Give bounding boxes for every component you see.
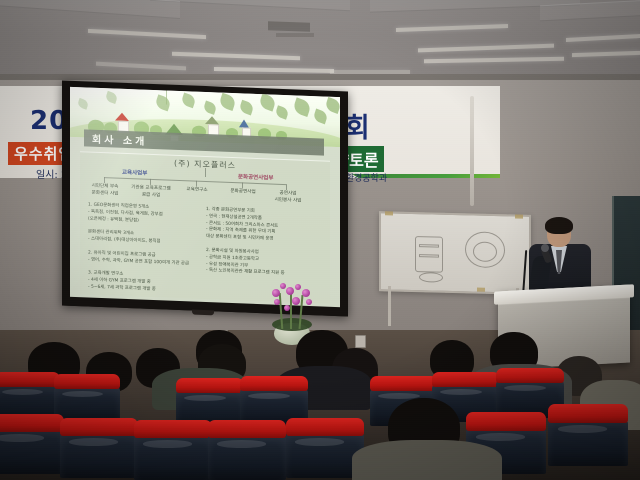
lecture-hall-photo: 200 우수취업 일시: 2009. 수회 공전략토론 대학교 환경공학과: [0, 0, 640, 480]
speaker-hair: [545, 217, 573, 234]
org-node: 문화공연사업: [220, 189, 266, 197]
orchid-bloom: [280, 283, 286, 289]
org-connector: [205, 168, 206, 177]
org-connector: [242, 182, 243, 188]
slide-body: (주) 지오플러스 교육사업부 문화공연사업부 시민단체 부속 문화센터 사업 …: [80, 151, 330, 304]
orchid-foliage: [272, 318, 312, 331]
slide-right-column: 1. 각종 문화공연부문 기회 - 연극 : 현재상설공연 2개작품 - 콘서트…: [206, 207, 324, 280]
whiteboard-clip: [477, 288, 485, 292]
orchid-bloom: [272, 289, 280, 297]
ceiling-vent: [268, 21, 310, 31]
seat-headrest: [0, 414, 64, 432]
seat-highlight: [440, 389, 482, 395]
audience-shoulders: [352, 440, 502, 480]
orchid-bloom: [286, 287, 294, 295]
wall-ceiling-rail: [0, 74, 640, 80]
orchid-stem: [290, 289, 292, 329]
org-connector: [286, 184, 287, 190]
seat-headrest: [496, 368, 564, 383]
seat-highlight: [476, 433, 526, 440]
orchid-bloom: [292, 297, 300, 305]
seat-headrest: [286, 418, 364, 436]
slide-title-text: 회사 소개: [92, 131, 147, 148]
ceiling-light: [418, 44, 554, 53]
ceiling-light: [96, 62, 186, 71]
leaf-icon: [292, 97, 312, 117]
org-node: 기관용 교육프로그램 공급 사업: [128, 185, 174, 200]
seat-highlight: [248, 393, 290, 399]
whiteboard-stand-leg: [388, 286, 391, 326]
seat-highlight: [295, 438, 343, 445]
whiteboard: [379, 211, 531, 295]
leaf-icon: [238, 100, 254, 116]
leaf-icon: [154, 94, 171, 111]
microphone-head-icon: [541, 244, 549, 252]
auditorium-seat: [0, 414, 64, 474]
seat-highlight: [504, 385, 546, 391]
org-connector: [104, 177, 105, 183]
seat-highlight: [2, 389, 43, 395]
seat-headrest: [240, 376, 308, 391]
org-branch-label-1: 교육사업부: [122, 168, 147, 177]
org-connector: [150, 179, 151, 185]
org-branch-label-2: 문화공연사업부: [238, 172, 273, 181]
ceiling: [0, 0, 640, 78]
whiteboard-sketch-line: [419, 244, 439, 247]
leaf-icon: [258, 93, 277, 111]
seat-headrest: [370, 376, 438, 391]
whiteboard-sketch: [419, 272, 443, 283]
orchid-bloom: [284, 305, 290, 311]
orchid-bloom: [306, 299, 312, 305]
projection-screen: 회사 소개 (주) 지오플러스 교육사업부 문화공연사업부 시민단체 부속 문화…: [62, 81, 348, 317]
slide-left-column: 1. GEO문화센터 직접운영 5개소 - 독촉점, 이천점, 다사점, 육게점…: [88, 203, 200, 296]
leaf-icon: [203, 100, 218, 114]
seat-headrest: [134, 420, 212, 438]
ceiling-panel: [150, 0, 350, 11]
seat-highlight: [558, 425, 608, 432]
whiteboard-sketch: [473, 241, 497, 262]
slide-canvas: 회사 소개 (주) 지오플러스 교육사업부 문화공연사업부 시민단체 부속 문화…: [70, 87, 340, 309]
seat-headrest: [548, 404, 628, 423]
auditorium-seat: [208, 420, 286, 480]
leaf-icon: [312, 109, 328, 125]
seat-headrest: [176, 378, 244, 393]
ceiling-light: [88, 29, 206, 39]
leaf-icon: [77, 98, 89, 110]
whiteboard-clip: [385, 211, 393, 215]
seat-highlight: [217, 440, 265, 447]
whiteboard-clip: [515, 214, 523, 218]
auditorium-seat: [60, 418, 138, 478]
house-roof: [239, 119, 249, 127]
seat-headrest: [466, 412, 546, 431]
ceiling-light: [566, 34, 640, 42]
wall-outlet: [355, 335, 366, 348]
seat-highlight: [0, 434, 44, 441]
orchid-bloom: [302, 289, 310, 297]
seat-headrest: [60, 418, 138, 436]
org-node: 시민단체 부속 문화센터 사업: [82, 183, 128, 198]
orchid-bloom: [274, 299, 280, 305]
leaf-icon: [218, 93, 237, 111]
ceiling-light: [214, 67, 334, 73]
ceiling-light: [424, 57, 564, 63]
seat-highlight: [143, 440, 191, 447]
ceiling-vent: [276, 33, 314, 37]
auditorium-seat: [134, 420, 212, 480]
leaf-icon: [324, 97, 340, 114]
org-node: 교육연구소: [174, 187, 220, 195]
seat-highlight: [69, 438, 117, 445]
leaf-icon: [180, 92, 196, 108]
ceiling-light: [396, 24, 508, 32]
auditorium-seat: [548, 404, 628, 466]
seat-headrest: [208, 420, 286, 438]
org-node: 공연사업 시민봉사 사업: [264, 190, 312, 205]
leaf-icon: [105, 91, 119, 104]
ceiling-light: [572, 51, 640, 57]
screen-pull-handle: [192, 310, 214, 316]
org-connector: [196, 181, 197, 187]
wall-light-tube: [470, 96, 474, 206]
seat-headrest: [432, 372, 500, 387]
ceiling-light: [172, 52, 300, 60]
seat-highlight: [184, 395, 226, 401]
seat-headrest: [54, 374, 120, 389]
ceiling-panel: [0, 0, 180, 19]
whiteboard-sketch-line: [419, 254, 439, 257]
seat-headrest: [0, 372, 60, 387]
leaf-icon: [275, 105, 290, 119]
orchid-bloom: [295, 284, 301, 290]
seat-highlight: [62, 391, 103, 397]
projected-slide: 회사 소개 (주) 지오플러스 교육사업부 문화공연사업부 시민단체 부속 문화…: [70, 87, 340, 309]
